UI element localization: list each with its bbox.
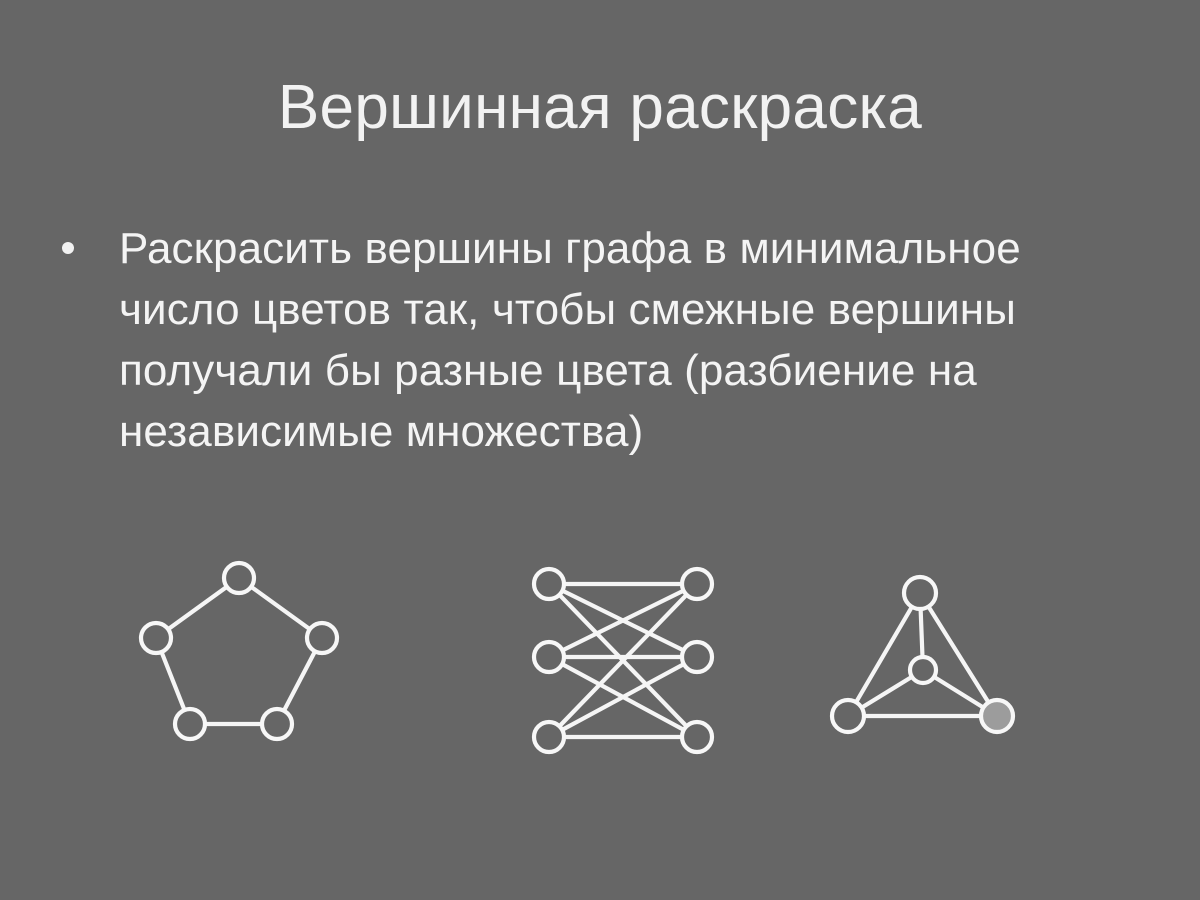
- bullet-dot-icon: [62, 242, 74, 254]
- graph-vertex: [534, 569, 564, 599]
- complete-bipartite-graph: [480, 530, 780, 790]
- graph-vertex-colored: [981, 700, 1013, 732]
- bullet-text: Раскрасить вершины графа в минимальное ч…: [119, 218, 1132, 462]
- edge-top-right: [920, 593, 997, 716]
- graph-vertex: [262, 709, 292, 739]
- graph-vertex: [910, 657, 936, 683]
- graph-vertex: [682, 642, 712, 672]
- slide-title: Вершинная раскраска: [0, 74, 1200, 142]
- graph-vertex: [832, 700, 864, 732]
- complete-graph-k4: [800, 530, 1100, 790]
- k4-edges: [848, 593, 997, 716]
- graph-vertex: [224, 563, 254, 593]
- graph-vertex: [682, 569, 712, 599]
- graph-vertex: [682, 722, 712, 752]
- pentagon-edges: [156, 578, 322, 724]
- bipartite-edges: [549, 584, 697, 737]
- pentagon-cycle-graph: [100, 530, 400, 790]
- graph-vertex: [534, 642, 564, 672]
- graph-vertex: [141, 623, 171, 653]
- graph-vertex: [307, 623, 337, 653]
- graph-vertex: [904, 577, 936, 609]
- graph-illustrations: [0, 530, 1200, 790]
- bullet-item: Раскрасить вершины графа в минимальное ч…: [62, 218, 1132, 462]
- graph-vertex: [175, 709, 205, 739]
- graph-vertex: [534, 722, 564, 752]
- slide-body: Раскрасить вершины графа в минимальное ч…: [62, 218, 1132, 462]
- edge-top-left: [848, 593, 920, 716]
- pentagon-nodes: [141, 563, 337, 739]
- presentation-slide: Вершинная раскраска Раскрасить вершины г…: [0, 0, 1200, 900]
